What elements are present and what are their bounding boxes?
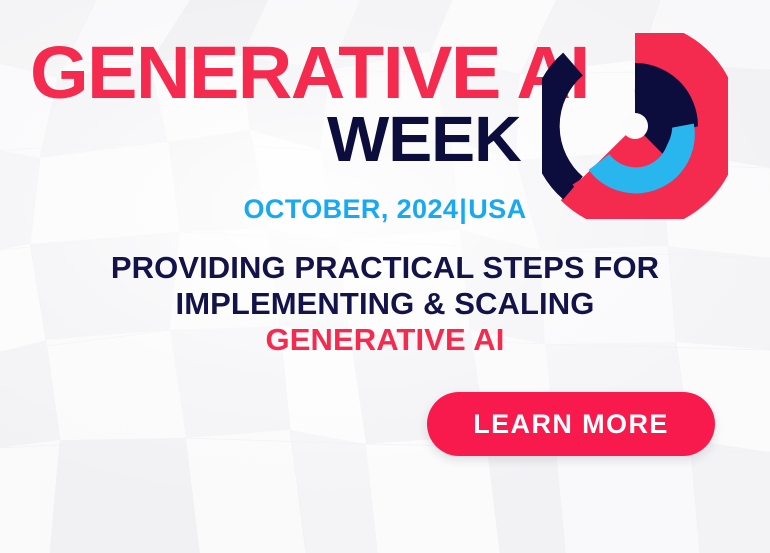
brand-title-line2: WEEK	[327, 107, 521, 171]
tagline-line-2: IMPLEMENTING & SCALING	[0, 286, 770, 322]
logo-core	[622, 113, 648, 139]
generative-ai-week-banner: GENERATIVE AI WEEK	[0, 0, 770, 553]
event-month-year: OCTOBER, 2024	[244, 194, 459, 224]
tagline-line-3: GENERATIVE AI	[0, 322, 770, 358]
brand-title-line1: GENERATIVE AI	[30, 36, 589, 110]
tagline-block: PROVIDING PRACTICAL STEPS FOR IMPLEMENTI…	[0, 250, 770, 358]
learn-more-button[interactable]: LEARN MORE	[427, 392, 715, 456]
event-location: USA	[468, 194, 526, 224]
event-date-location: OCTOBER, 2024|USA	[0, 192, 770, 226]
event-date-separator: |	[458, 194, 468, 224]
logo-ring-navy-left	[545, 64, 573, 188]
cta-container: LEARN MORE	[427, 392, 715, 456]
tagline-line-1: PROVIDING PRACTICAL STEPS FOR	[0, 250, 770, 286]
